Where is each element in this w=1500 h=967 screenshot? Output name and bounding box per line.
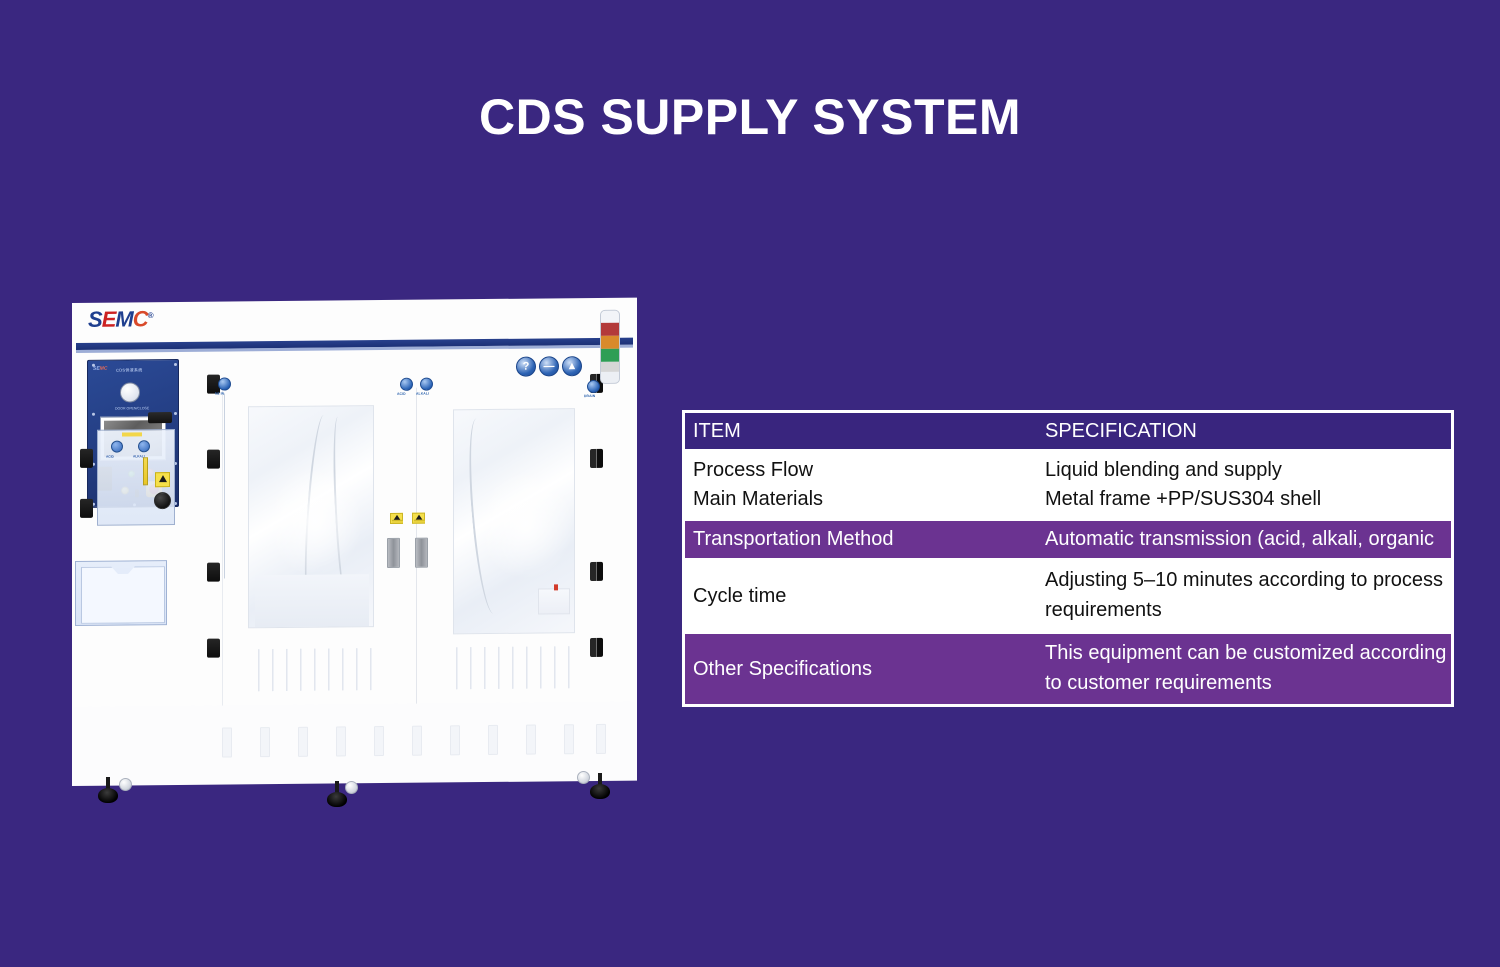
chemical-supply-module: ACID ALKALI xyxy=(97,429,175,526)
leveling-foot xyxy=(327,781,347,809)
logo-letter-c: C xyxy=(133,306,148,331)
n2-port-label: N2 IN xyxy=(215,392,224,396)
alkali-port-label: ALKALI xyxy=(416,392,429,396)
logo-registered-mark: ® xyxy=(148,311,153,320)
row-item-cell: Cycle time xyxy=(685,561,1037,631)
page-title: CDS SUPPLY SYSTEM xyxy=(0,92,1500,142)
row-item-cell: Other Specifications xyxy=(685,634,1037,704)
door-hinge xyxy=(207,639,220,658)
panel-logo: SEMC xyxy=(93,366,107,372)
header-cell-item: ITEM xyxy=(685,413,1037,449)
pressure-dial xyxy=(154,492,171,509)
row-item-line: Main Materials xyxy=(693,485,1037,514)
row-spec-cell: Adjusting 5–10 minutes according to proc… xyxy=(1037,561,1451,631)
table-header-row: ITEM SPECIFICATION xyxy=(685,413,1451,449)
knob-caption: DOOR OPEN/CLOSE xyxy=(115,406,149,410)
acid-port-icon xyxy=(400,378,413,391)
door-hinge xyxy=(80,499,93,518)
row-item-line: Process Flow xyxy=(693,456,1037,485)
warning-label-icon xyxy=(155,472,170,487)
door-hinge xyxy=(207,563,220,582)
right-door-louvers xyxy=(456,646,576,689)
row-spec-line: Metal frame +PP/SUS304 shell xyxy=(1045,485,1451,514)
minus-pictogram-icon: — xyxy=(539,356,559,376)
door-hinge xyxy=(590,638,603,657)
row-spec-cell: This equipment can be customized accordi… xyxy=(1037,634,1451,704)
right-door-window xyxy=(453,408,575,634)
header-cell-specification: SPECIFICATION xyxy=(1037,413,1451,449)
drain-port-label: DRAIN xyxy=(584,394,595,398)
panel-title-label: CDS供液系统 xyxy=(116,367,143,373)
logo-letter-m: M xyxy=(115,306,132,331)
door-hinge xyxy=(590,449,603,468)
door-hinge xyxy=(590,562,603,581)
door-hinge xyxy=(207,450,220,469)
module-port-label-1: ACID xyxy=(106,455,114,459)
table-row: Cycle time Adjusting 5–10 minutes accord… xyxy=(685,561,1451,631)
n2-port-icon xyxy=(218,377,231,390)
module-port-icon-2 xyxy=(138,440,150,452)
logo-letter-e: E xyxy=(102,307,116,332)
row-spec-cell: Automatic transmission (acid, alkali, or… xyxy=(1037,521,1451,558)
left-door-handle[interactable] xyxy=(387,538,400,568)
row-spec-cell: Liquid blending and supply Metal frame +… xyxy=(1037,452,1451,518)
specification-table: ITEM SPECIFICATION Process Flow Main Mat… xyxy=(682,410,1454,707)
table-row: Process Flow Main Materials Liquid blend… xyxy=(685,452,1451,518)
door-hinge xyxy=(80,449,93,468)
leveling-foot xyxy=(590,773,610,801)
acid-port-label: ACID xyxy=(397,392,406,396)
module-port-icon-1 xyxy=(111,441,123,453)
drain-port-icon xyxy=(587,380,600,393)
document-pocket xyxy=(75,560,167,626)
question-pictogram-icon: ? xyxy=(516,357,536,377)
row-item-cell: Transportation Method xyxy=(685,521,1037,558)
caster-wheel xyxy=(119,778,132,791)
row-item-cell: Process Flow Main Materials xyxy=(685,452,1037,518)
level-sight-tube xyxy=(143,457,148,485)
logo-letter-s: S xyxy=(88,307,102,332)
door-knob[interactable] xyxy=(120,382,140,402)
alkali-port-icon xyxy=(420,378,433,391)
table-row: Transportation Method Automatic transmis… xyxy=(685,521,1451,558)
person-pictogram-icon: ▲ xyxy=(562,356,582,376)
left-door-window xyxy=(248,405,374,628)
table-row: Other Specifications This equipment can … xyxy=(685,634,1451,704)
stack-light-tower xyxy=(600,310,620,384)
cabinet-base-skirt xyxy=(74,702,635,785)
laser-warning-label xyxy=(390,513,403,524)
panel-latch[interactable] xyxy=(148,412,172,423)
semc-logo: SEMC® xyxy=(88,308,153,331)
leveling-foot xyxy=(98,777,118,805)
product-photo: SEMC® SEMC CDS供液系统 DOOR OPEN/CLOSE xyxy=(72,303,637,803)
row-spec-line: Liquid blending and supply xyxy=(1045,456,1451,485)
left-door-louvers xyxy=(258,648,378,691)
machine-cabinet: SEMC® SEMC CDS供液系统 DOOR OPEN/CLOSE xyxy=(72,298,637,786)
laser-warning-label xyxy=(412,513,425,524)
right-door-handle[interactable] xyxy=(415,538,428,568)
module-yellow-bar xyxy=(122,432,142,436)
caster-wheel xyxy=(577,771,590,784)
